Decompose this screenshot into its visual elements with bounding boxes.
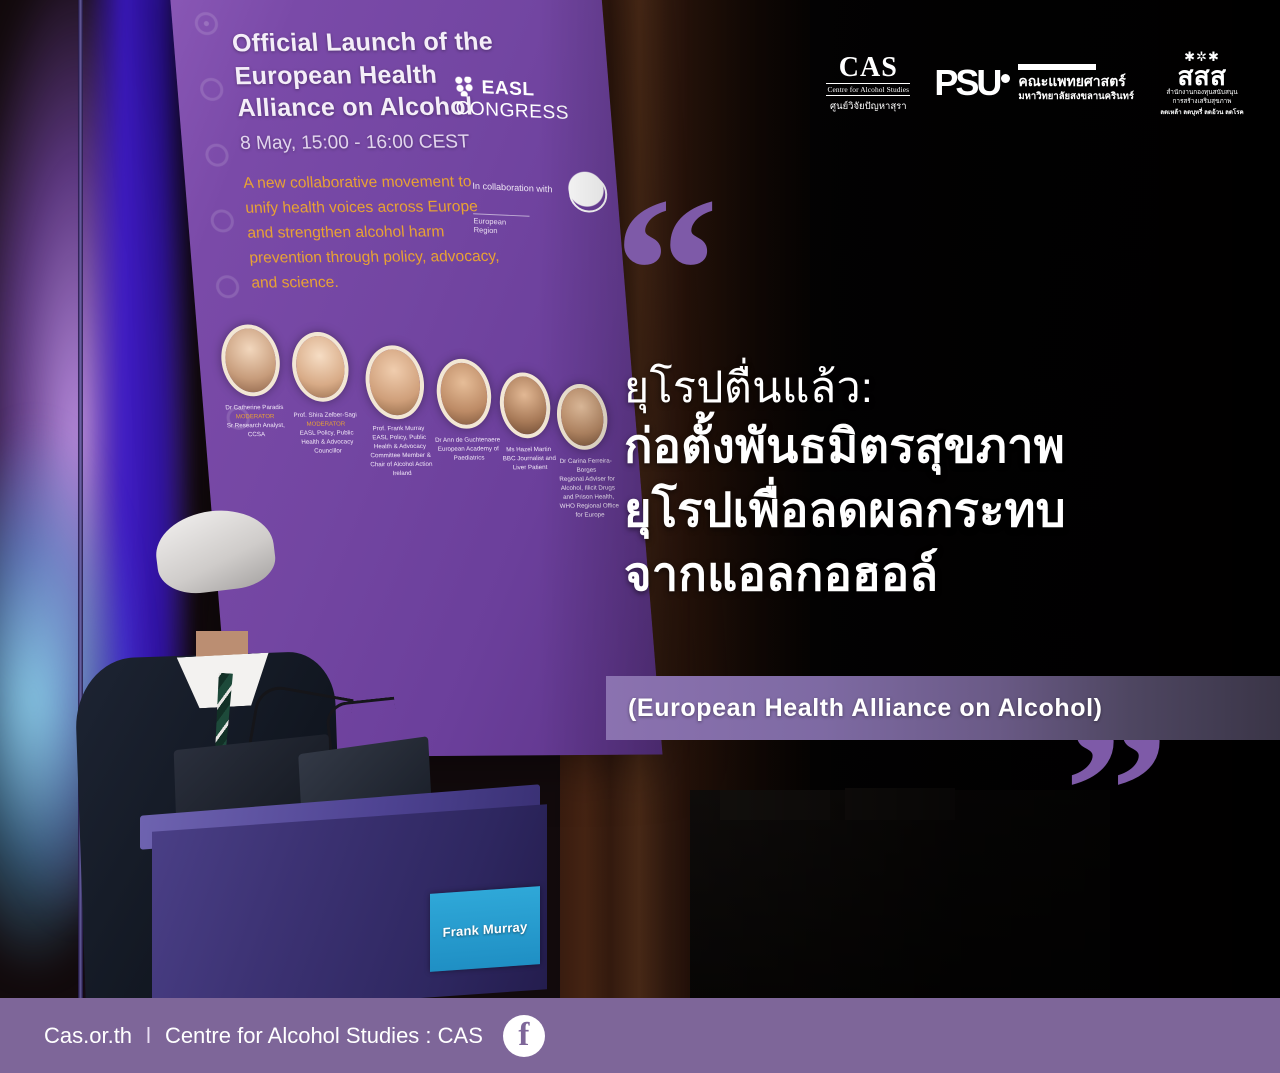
subtitle-text: (European Health Alliance on Alcohol)	[628, 694, 1103, 723]
thaihealth-line2: การสร้างเสริมสุขภาพ	[1156, 98, 1248, 107]
speaker-nameplate-text: Frank Murray	[443, 919, 528, 940]
who-region-label: European Region	[473, 213, 530, 236]
partner-logo-row: CAS Centre for Alcohol Studies ศูนย์วิจั…	[824, 50, 1248, 117]
speaker-avatar	[363, 345, 427, 419]
footer-website-url[interactable]: Cas.or.th	[44, 1023, 132, 1049]
cas-logo-wordmark: CAS	[824, 54, 912, 82]
cas-logo-thai: ศูนย์วิจัยปัญหาสุรา	[824, 99, 912, 114]
slide-body-text: A new collaborative movement to unify he…	[242, 169, 505, 296]
speaker-avatar	[289, 332, 351, 402]
who-collaboration-block: In collaboration with European Region	[472, 163, 624, 216]
psu-logo-mark: PSU	[934, 67, 1010, 99]
slide-speaker-row: Dr Catherine Paradis MODERATOR Sr Resear…	[218, 318, 634, 510]
thaihealth-logo: ✱✲✱ สสส สำนักงานกองทุนสนับสนุน การสร้างเ…	[1156, 50, 1248, 117]
collaboration-label: In collaboration with	[472, 181, 552, 195]
thaihealth-line3: ลดเหล้า ลดบุหรี่ ลดอ้วน ลดโรค	[1156, 107, 1248, 117]
speaker-avatar	[554, 384, 609, 450]
easl-congress-logo: EASL CONGRESS	[455, 76, 597, 126]
footer-organisation-name: Centre for Alcohol Studies : CAS	[165, 1023, 483, 1049]
headline-line-2: ก่อตั้งพันธมิตรสุขภาพ	[624, 414, 1224, 478]
speaker-caption: Dr Ann de Guchtenaere European Academy o…	[434, 436, 502, 463]
psu-logo: PSU คณะแพทยศาสตร์ มหาวิทยาลัยสงขลานครินท…	[934, 64, 1134, 102]
headline-line-3: ยุโรปเพื่อลดผลกระทบ	[624, 478, 1224, 542]
headline-line-1: ยุโรปตื่นแล้ว:	[624, 362, 1224, 414]
psu-faculty-name: คณะแพทยศาสตร์	[1018, 73, 1134, 91]
easl-logo-text: EASL	[481, 77, 534, 100]
thaihealth-line1: สำนักงานกองทุนสนับสนุน	[1156, 89, 1248, 98]
stage-monitor	[845, 788, 955, 820]
psu-university-name: มหาวิทยาลัยสงขลานครินทร์	[1018, 91, 1134, 103]
speaker-caption: Prof. Frank Murray EASL Policy, Public H…	[365, 425, 435, 479]
speaker-caption: Prof. Shira Zelber-Sagi MODERATOR EASL P…	[292, 411, 362, 456]
thaihealth-wordmark: สสส	[1156, 63, 1248, 89]
quote-open-icon: “	[614, 196, 719, 347]
who-logo-icon	[562, 168, 610, 216]
subtitle-bar: (European Health Alliance on Alcohol)	[606, 676, 1280, 740]
cas-logo: CAS Centre for Alcohol Studies ศูนย์วิจั…	[824, 54, 912, 114]
psu-logo-dot-icon	[1001, 74, 1010, 83]
speaker-avatar	[497, 372, 552, 438]
slide-datetime: 8 May, 15:00 - 16:00 CEST	[239, 130, 588, 154]
easl-dots-icon	[455, 76, 478, 97]
psu-logo-letters: PSU	[934, 62, 999, 103]
headline-line-4: จากแอลกอฮอล์	[624, 542, 1224, 606]
easl-congress-word: CONGRESS	[455, 98, 569, 124]
stage-monitor	[720, 790, 830, 820]
footer-bar: Cas.or.th l Centre for Alcohol Studies :…	[0, 998, 1280, 1073]
footer-separator: l	[146, 1023, 151, 1049]
social-media-card: Official Launch of the European Health A…	[0, 0, 1280, 1073]
psu-logo-rule	[1018, 64, 1096, 70]
stage-dais	[690, 790, 1110, 998]
speaker-caption: Dr Catherine Paradis MODERATOR Sr Resear…	[221, 404, 290, 440]
speaker-avatar	[434, 359, 494, 429]
speaker-nameplate: Frank Murray	[430, 886, 540, 972]
facebook-icon[interactable]	[503, 1015, 545, 1057]
speaker-caption: Dr Carina Ferreira-Borges Regional Advis…	[552, 458, 623, 521]
speaker-avatar	[219, 324, 283, 396]
cas-logo-tagline: Centre for Alcohol Studies	[826, 83, 910, 96]
headline-block: ยุโรปตื่นแล้ว: ก่อตั้งพันธมิตรสุขภาพ ยุโ…	[624, 362, 1224, 606]
